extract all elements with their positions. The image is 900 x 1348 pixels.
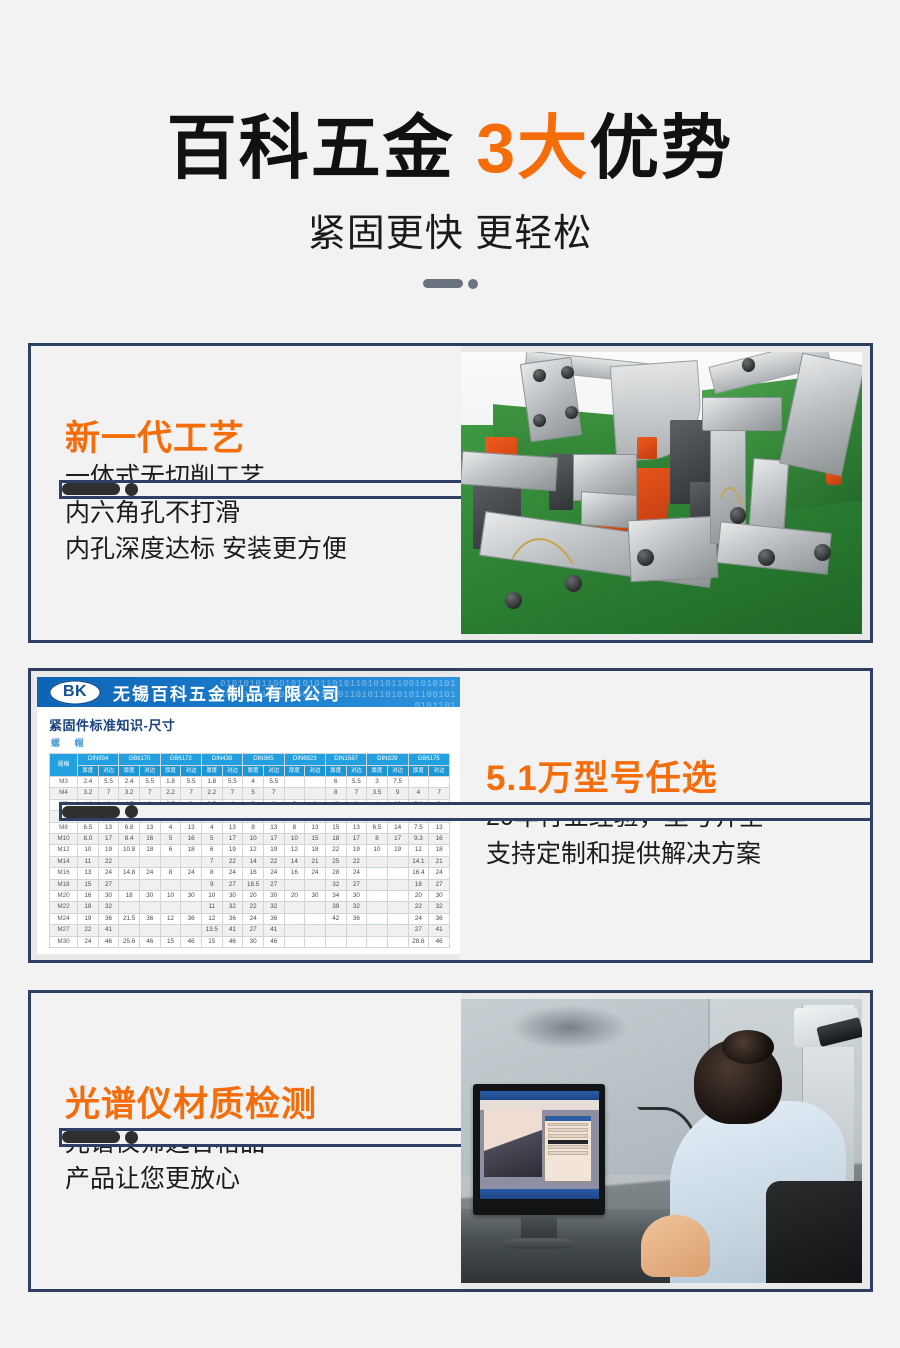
nut-value-cell: [284, 776, 305, 787]
nut-value-cell: [305, 936, 326, 947]
nut-value-cell: 13: [139, 822, 160, 833]
nut-value-cell: 8.0: [78, 833, 99, 844]
nut-value-cell: 36: [139, 913, 160, 924]
nut-value-cell: [429, 776, 450, 787]
nut-value-cell: 3: [367, 776, 388, 787]
nut-value-cell: 19: [346, 845, 367, 856]
nut-value-cell: 12: [284, 845, 305, 856]
nut-value-cell: 25: [325, 856, 346, 867]
spec-column-header: 规格: [50, 754, 78, 777]
nut-spec-cell: M4: [50, 788, 78, 799]
nut-value-cell: 18: [139, 845, 160, 856]
nut-value-cell: 7.5: [387, 776, 408, 787]
nut-value-cell: [160, 902, 181, 913]
nut-value-cell: 10: [243, 833, 264, 844]
nut-value-cell: 1.8: [201, 776, 222, 787]
nut-table-head: 规格DIN934GB6170GB6172DIN439DIN985DIN6923D…: [50, 754, 450, 777]
page-title-tail: 优势: [589, 109, 733, 187]
nut-value-cell: 17: [346, 833, 367, 844]
nut-value-cell: 2.4: [78, 776, 99, 787]
sub-column-header: 对边: [387, 765, 408, 776]
nut-value-cell: 24: [139, 868, 160, 879]
divider-dot-icon: [125, 1131, 138, 1144]
nut-table-row: M30244625.64615461546304628.646: [50, 936, 450, 947]
nut-value-cell: [387, 890, 408, 901]
nut-value-cell: 13: [181, 822, 202, 833]
nut-value-cell: 11: [201, 902, 222, 913]
nut-spec-cell: M16: [50, 868, 78, 879]
nut-value-cell: 19: [387, 845, 408, 856]
nut-value-cell: 32: [346, 902, 367, 913]
nut-value-cell: 24: [429, 868, 450, 879]
nut-value-cell: [139, 856, 160, 867]
nut-value-cell: 22: [325, 845, 346, 856]
nut-value-cell: 32: [325, 879, 346, 890]
nut-value-cell: [284, 788, 305, 799]
nut-value-cell: 22: [243, 902, 264, 913]
nut-value-cell: 2.4: [119, 776, 140, 787]
nut-value-cell: 18: [305, 845, 326, 856]
standard-column-header: DIN934: [78, 754, 119, 765]
nut-spec-cell: M27: [50, 925, 78, 936]
nut-value-cell: 4: [243, 776, 264, 787]
sub-column-header: 对边: [98, 765, 119, 776]
feature-card-1-text: 新一代工艺 一体式无切削工艺 内六角孔不打滑 内孔深度达标 安装更方便: [31, 346, 461, 640]
nut-value-cell: [305, 776, 326, 787]
nut-value-cell: 12: [160, 913, 181, 924]
nut-value-cell: 16: [429, 833, 450, 844]
nut-value-cell: 36: [98, 913, 119, 924]
nut-value-cell: 7: [98, 788, 119, 799]
nut-value-cell: 36: [222, 913, 243, 924]
nut-value-cell: [305, 902, 326, 913]
nut-value-cell: 8: [367, 833, 388, 844]
feature-line: 支持定制和提供解决方案: [486, 836, 870, 872]
nut-value-cell: [160, 879, 181, 890]
nut-value-cell: 5: [160, 833, 181, 844]
nut-value-cell: 5.5: [139, 776, 160, 787]
nut-value-cell: 13: [222, 822, 243, 833]
nut-value-cell: [346, 925, 367, 936]
nut-spec-cell: M12: [50, 845, 78, 856]
nut-value-cell: 27: [243, 925, 264, 936]
machine-photo: [461, 352, 862, 634]
nut-value-cell: 32: [222, 902, 243, 913]
nut-value-cell: 13: [346, 822, 367, 833]
nut-value-cell: 36: [263, 913, 284, 924]
nut-value-cell: 10: [78, 845, 99, 856]
nut-value-cell: 4: [201, 822, 222, 833]
divider-bar-icon: [62, 1131, 120, 1143]
page-title-main: 百科五金: [167, 109, 455, 187]
nut-value-cell: 14: [284, 856, 305, 867]
nut-value-cell: 7: [181, 788, 202, 799]
feature-card-1-heading: 新一代工艺: [65, 419, 461, 459]
nut-dimension-table: 规格DIN934GB6170GB6172DIN439DIN985DIN6923D…: [49, 753, 450, 948]
sub-column-header: 厚度: [119, 765, 140, 776]
nut-value-cell: 27: [98, 879, 119, 890]
nut-value-cell: 12: [201, 913, 222, 924]
feature-card-2: 0101010110010101011010110101011001010101…: [28, 668, 873, 963]
nut-value-cell: 13: [78, 868, 99, 879]
feature-card-3-text: 光谱仪材质检测 光谱仪筛选合格品 产品让您更放心: [31, 993, 461, 1289]
nut-value-cell: [367, 856, 388, 867]
nut-value-cell: 7: [263, 788, 284, 799]
nut-value-cell: 32: [429, 902, 450, 913]
sub-header-row: 厚度对边厚度对边厚度对边厚度对边厚度对边厚度对边厚度对边厚度对边厚度对边: [50, 765, 450, 776]
nut-value-cell: 20: [243, 890, 264, 901]
nut-value-cell: 34: [325, 890, 346, 901]
sub-column-header: 对边: [429, 765, 450, 776]
nut-value-cell: 6: [325, 776, 346, 787]
nut-value-cell: 10: [160, 890, 181, 901]
nut-value-cell: 18: [78, 902, 99, 913]
nut-value-cell: 6: [160, 845, 181, 856]
nut-table-row: M43.273.272.272.2757873.5947: [50, 788, 450, 799]
nut-value-cell: 20: [408, 890, 429, 901]
bk-logo-icon: BK: [49, 680, 101, 705]
nut-value-cell: 8: [243, 822, 264, 833]
nut-value-cell: 25.6: [119, 936, 140, 947]
nut-value-cell: 39: [325, 902, 346, 913]
nut-value-cell: 30: [98, 890, 119, 901]
nut-value-cell: [284, 913, 305, 924]
nut-value-cell: 3.2: [119, 788, 140, 799]
nut-value-cell: 19: [78, 913, 99, 924]
nut-value-cell: 8.4: [119, 833, 140, 844]
nut-value-cell: 18: [119, 890, 140, 901]
sub-column-header: 厚度: [367, 765, 388, 776]
nut-table-row: M14112272214221421252214.121: [50, 856, 450, 867]
nut-value-cell: 46: [98, 936, 119, 947]
nut-value-cell: 27: [429, 879, 450, 890]
feature-card-1: 新一代工艺 一体式无切削工艺 内六角孔不打滑 内孔深度达标 安装更方便: [28, 343, 873, 643]
nut-value-cell: 22: [222, 856, 243, 867]
nut-table-row: M2016301830103010302030203034302030: [50, 890, 450, 901]
nut-value-cell: 42: [325, 913, 346, 924]
feature-card-2-divider: [59, 802, 873, 821]
nut-spec-cell: M8: [50, 822, 78, 833]
nut-spec-cell: M24: [50, 913, 78, 924]
nut-table-row: M24193621.53612361236243642362436: [50, 913, 450, 924]
nut-value-cell: 13.5: [201, 925, 222, 936]
divider-bar-icon: [62, 806, 120, 818]
page-header: 百科五金 3大优势 紧固更快 更轻松: [0, 0, 900, 289]
nut-value-cell: 18: [429, 845, 450, 856]
nut-value-cell: [367, 890, 388, 901]
nut-value-cell: 24: [222, 868, 243, 879]
nut-value-cell: 15: [305, 833, 326, 844]
nut-value-cell: 19: [222, 845, 243, 856]
feature-card-1-lines: 一体式无切削工艺 内六角孔不打滑 内孔深度达标 安装更方便: [65, 459, 461, 568]
sub-column-header: 厚度: [160, 765, 181, 776]
nut-value-cell: 28.6: [408, 936, 429, 947]
nut-value-cell: 17: [98, 833, 119, 844]
sub-column-header: 对边: [139, 765, 160, 776]
feature-line: 内孔深度达标 安装更方便: [65, 531, 461, 567]
divider-dot-icon: [125, 483, 138, 496]
feature-card-1-media: [461, 346, 870, 640]
sub-column-header: 对边: [346, 765, 367, 776]
nut-value-cell: [387, 913, 408, 924]
nut-value-cell: 24: [263, 868, 284, 879]
nut-value-cell: [387, 925, 408, 936]
nut-value-cell: 15: [201, 936, 222, 947]
nut-value-cell: 7: [429, 788, 450, 799]
sub-column-header: 厚度: [201, 765, 222, 776]
nut-value-cell: 30: [222, 890, 243, 901]
sub-column-header: 厚度: [78, 765, 99, 776]
nut-value-cell: [367, 925, 388, 936]
table-image-body: 紧固件标准知识-尺寸 螺 帽 规格DIN934GB6170GB6172DIN43…: [37, 707, 460, 954]
nut-value-cell: 24: [98, 868, 119, 879]
nut-value-cell: [387, 936, 408, 947]
nut-value-cell: 10: [201, 890, 222, 901]
nut-value-cell: 14: [243, 856, 264, 867]
standard-column-header: DIN439: [201, 754, 242, 765]
nut-value-cell: [284, 936, 305, 947]
nut-value-cell: [367, 902, 388, 913]
nut-value-cell: 17: [263, 833, 284, 844]
nut-value-cell: 36: [181, 913, 202, 924]
nut-spec-cell: M20: [50, 890, 78, 901]
nut-value-cell: 7: [346, 788, 367, 799]
nut-value-cell: [305, 879, 326, 890]
page-title-accent: 3大: [476, 109, 589, 187]
nut-value-cell: 27: [408, 925, 429, 936]
page-title: 百科五金 3大优势: [0, 112, 900, 186]
nut-value-cell: [284, 902, 305, 913]
nut-value-cell: 16: [243, 868, 264, 879]
nut-value-cell: 2.2: [160, 788, 181, 799]
nut-value-cell: [284, 925, 305, 936]
nut-value-cell: 41: [222, 925, 243, 936]
table-title: 紧固件标准知识-尺寸: [49, 715, 450, 734]
nut-value-cell: [305, 925, 326, 936]
nut-value-cell: 16: [181, 833, 202, 844]
company-name: 无锡百科五金制品有限公司: [113, 680, 341, 705]
nut-value-cell: 30: [243, 936, 264, 947]
nut-value-cell: [305, 788, 326, 799]
table-image-banner: 0101010110010101011010110101011001010101…: [37, 677, 460, 707]
nut-value-cell: 22: [98, 856, 119, 867]
feature-card-3-heading: 光谱仪材质检测: [65, 1085, 461, 1125]
nut-value-cell: 46: [139, 936, 160, 947]
nut-value-cell: 6: [201, 845, 222, 856]
nut-value-cell: 13: [98, 822, 119, 833]
standard-column-header: DIN6923: [284, 754, 325, 765]
standard-column-header: GB6170: [119, 754, 160, 765]
nut-value-cell: 3.5: [367, 788, 388, 799]
nut-value-cell: [181, 856, 202, 867]
nut-value-cell: 14.8: [119, 868, 140, 879]
nut-value-cell: 27: [263, 879, 284, 890]
nut-value-cell: 21: [305, 856, 326, 867]
nut-value-cell: 22: [78, 925, 99, 936]
nut-value-cell: 30: [139, 890, 160, 901]
nut-value-cell: 1.8: [160, 776, 181, 787]
nut-value-cell: 5.5: [181, 776, 202, 787]
nut-value-cell: 12: [243, 845, 264, 856]
nut-table-row: M27224113.54127412741: [50, 925, 450, 936]
nut-value-cell: [139, 925, 160, 936]
nut-table-row: M16132414.82482482416241624282416.424: [50, 868, 450, 879]
nut-value-cell: 46: [263, 936, 284, 947]
nut-value-cell: 16: [78, 890, 99, 901]
standard-column-header: GB6172: [160, 754, 201, 765]
sub-column-header: 厚度: [325, 765, 346, 776]
nut-value-cell: [367, 936, 388, 947]
nut-value-cell: [119, 879, 140, 890]
nut-value-cell: 16: [139, 833, 160, 844]
nut-value-cell: 30: [181, 890, 202, 901]
nut-table-row: M32.45.52.45.51.85.51.85.545.565.537.5: [50, 776, 450, 787]
header-divider: [0, 279, 900, 289]
divider-bar-icon: [423, 279, 463, 288]
nut-table-row: M2218321132223239322232: [50, 902, 450, 913]
nut-value-cell: [181, 925, 202, 936]
nut-table-row: M86.5136.81341341381381315136.5147.513: [50, 822, 450, 833]
nut-value-cell: [325, 936, 346, 947]
nut-value-cell: 30: [429, 890, 450, 901]
nut-value-cell: [305, 913, 326, 924]
nut-value-cell: [181, 902, 202, 913]
feature-line: 内六角孔不打滑: [65, 495, 461, 531]
nut-value-cell: 5.5: [346, 776, 367, 787]
nut-value-cell: 18: [325, 833, 346, 844]
divider-bar-icon: [62, 483, 120, 495]
nut-value-cell: 15: [325, 822, 346, 833]
nut-value-cell: [367, 868, 388, 879]
nut-value-cell: 22: [263, 856, 284, 867]
nut-value-cell: 30: [263, 890, 284, 901]
nut-value-cell: [408, 776, 429, 787]
sub-column-header: 厚度: [284, 765, 305, 776]
nut-value-cell: [139, 902, 160, 913]
nut-value-cell: 24: [346, 868, 367, 879]
lab-inspection-photo: [461, 999, 862, 1283]
nut-value-cell: 14: [387, 822, 408, 833]
nut-value-cell: 21: [429, 856, 450, 867]
nut-value-cell: 24: [305, 868, 326, 879]
nut-value-cell: 12: [408, 845, 429, 856]
nut-table-row: M108.0178.4165165171017101518178179.316: [50, 833, 450, 844]
nut-value-cell: [367, 879, 388, 890]
nut-value-cell: 8: [160, 868, 181, 879]
nut-value-cell: 32: [98, 902, 119, 913]
nut-value-cell: 14.1: [408, 856, 429, 867]
feature-card-2-text: 5.1万型号任选 20年行业经验，型号齐全 支持定制和提供解决方案: [460, 671, 870, 960]
nut-value-cell: [387, 902, 408, 913]
sub-column-header: 厚度: [243, 765, 264, 776]
nut-value-cell: 46: [429, 936, 450, 947]
nut-value-cell: 24: [78, 936, 99, 947]
nut-value-cell: 41: [429, 925, 450, 936]
nut-value-cell: 5: [201, 833, 222, 844]
nut-value-cell: 4: [408, 788, 429, 799]
nut-value-cell: 13: [263, 822, 284, 833]
divider-dot-icon: [125, 805, 138, 818]
nut-value-cell: [325, 925, 346, 936]
nut-value-cell: 9.3: [408, 833, 429, 844]
nut-value-cell: 36: [429, 913, 450, 924]
nut-value-cell: 8: [284, 822, 305, 833]
nut-value-cell: 41: [263, 925, 284, 936]
nut-value-cell: 11: [78, 856, 99, 867]
nut-value-cell: 19: [263, 845, 284, 856]
sub-column-header: 对边: [305, 765, 326, 776]
nut-value-cell: 7: [139, 788, 160, 799]
nut-value-cell: 6.5: [78, 822, 99, 833]
feature-line: 产品让您更放心: [65, 1161, 461, 1197]
nut-value-cell: [160, 925, 181, 936]
sub-column-header: 对边: [222, 765, 243, 776]
nut-value-cell: [284, 879, 305, 890]
nut-spec-cell: M22: [50, 902, 78, 913]
nut-value-cell: 5.5: [98, 776, 119, 787]
divider-dot-icon: [468, 279, 478, 289]
table-subtitle: 螺 帽: [51, 736, 450, 749]
nut-value-cell: 28: [325, 868, 346, 879]
nut-value-cell: 7: [201, 856, 222, 867]
nut-value-cell: 7: [222, 788, 243, 799]
nut-value-cell: 27: [222, 879, 243, 890]
nut-value-cell: 46: [181, 936, 202, 947]
nut-value-cell: 18.5: [243, 879, 264, 890]
nut-value-cell: 13: [305, 822, 326, 833]
nut-value-cell: 9: [201, 879, 222, 890]
nut-value-cell: 41: [98, 925, 119, 936]
nut-value-cell: 46: [222, 936, 243, 947]
nut-value-cell: 6.8: [119, 822, 140, 833]
nut-value-cell: [367, 913, 388, 924]
nut-value-cell: [346, 936, 367, 947]
nut-value-cell: 8: [325, 788, 346, 799]
sub-column-header: 对边: [263, 765, 284, 776]
nut-spec-cell: M10: [50, 833, 78, 844]
nut-table-row: M18152792718.52732271827: [50, 879, 450, 890]
nut-value-cell: [387, 868, 408, 879]
nut-value-cell: 27: [346, 879, 367, 890]
nut-value-cell: 18: [408, 879, 429, 890]
nut-value-cell: 5.5: [263, 776, 284, 787]
nut-value-cell: 30: [305, 890, 326, 901]
nut-value-cell: 24: [243, 913, 264, 924]
nut-value-cell: 15: [78, 879, 99, 890]
nut-value-cell: 17: [222, 833, 243, 844]
nut-value-cell: [160, 856, 181, 867]
nut-value-cell: 4: [160, 822, 181, 833]
nut-value-cell: 32: [263, 902, 284, 913]
nut-value-cell: [139, 879, 160, 890]
sub-column-header: 厚度: [408, 765, 429, 776]
nut-value-cell: 19: [98, 845, 119, 856]
nut-value-cell: 10.8: [119, 845, 140, 856]
feature-card-3-media: [461, 993, 870, 1289]
nut-value-cell: [387, 879, 408, 890]
page-subtitle: 紧固更快 更轻松: [0, 202, 900, 257]
nut-spec-cell: M30: [50, 936, 78, 947]
nut-value-cell: 5.5: [222, 776, 243, 787]
nut-value-cell: 36: [346, 913, 367, 924]
nut-value-cell: 22: [408, 902, 429, 913]
nut-value-cell: 30: [346, 890, 367, 901]
standard-column-header: DIN985: [243, 754, 284, 765]
nut-value-cell: 3.2: [78, 788, 99, 799]
feature-card-3: 光谱仪材质检测 光谱仪筛选合格品 产品让您更放心: [28, 990, 873, 1292]
nut-value-cell: [387, 856, 408, 867]
nut-value-cell: [181, 879, 202, 890]
